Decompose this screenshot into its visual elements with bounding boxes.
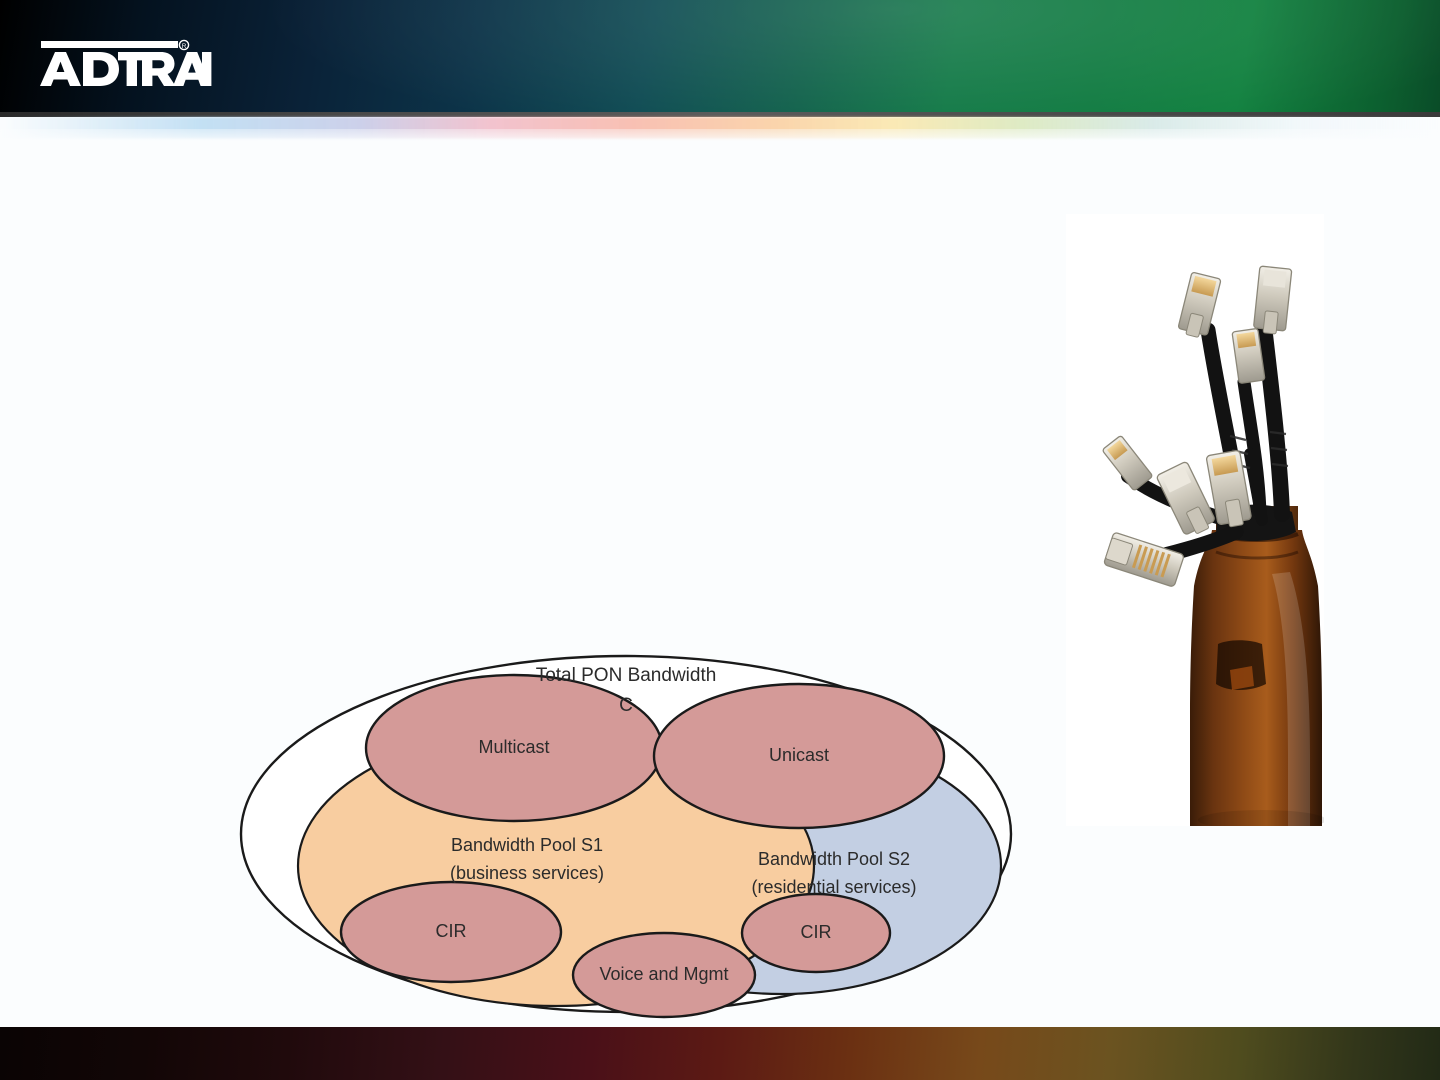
label-bandwidth-pool-s2: Bandwidth Pool S2 bbox=[758, 849, 910, 869]
ethernet-cables-bottle-photo bbox=[1066, 214, 1324, 826]
pon-bandwidth-venn-diagram: Total PON Bandwidth C Multicast Unicast … bbox=[236, 648, 1026, 1020]
label-voice-and-mgmt: Voice and Mgmt bbox=[599, 964, 728, 984]
presentation-slide: R bbox=[0, 0, 1440, 1080]
label-cir-s1: CIR bbox=[436, 921, 467, 941]
logo-overline-bar bbox=[41, 41, 178, 48]
label-bandwidth-pool-s1: Bandwidth Pool S1 bbox=[451, 835, 603, 855]
glass-bottle bbox=[1190, 506, 1322, 826]
label-total-pon-bandwidth-sub: C bbox=[619, 695, 633, 716]
label-total-pon-bandwidth: Total PON Bandwidth bbox=[536, 665, 717, 686]
slide-header-band bbox=[0, 0, 1440, 112]
adtran-logo: R bbox=[34, 38, 214, 94]
label-bandwidth-pool-s2-sub: (residential services) bbox=[751, 877, 916, 897]
svg-text:R: R bbox=[182, 43, 187, 50]
header-rainbow-fade bbox=[0, 129, 1440, 145]
label-multicast: Multicast bbox=[478, 737, 549, 757]
label-cir-s2: CIR bbox=[801, 922, 832, 942]
label-unicast: Unicast bbox=[769, 745, 829, 765]
label-bandwidth-pool-s1-sub: (business services) bbox=[450, 863, 604, 883]
logo-wordmark bbox=[40, 52, 211, 86]
slide-footer-band bbox=[0, 1027, 1440, 1080]
